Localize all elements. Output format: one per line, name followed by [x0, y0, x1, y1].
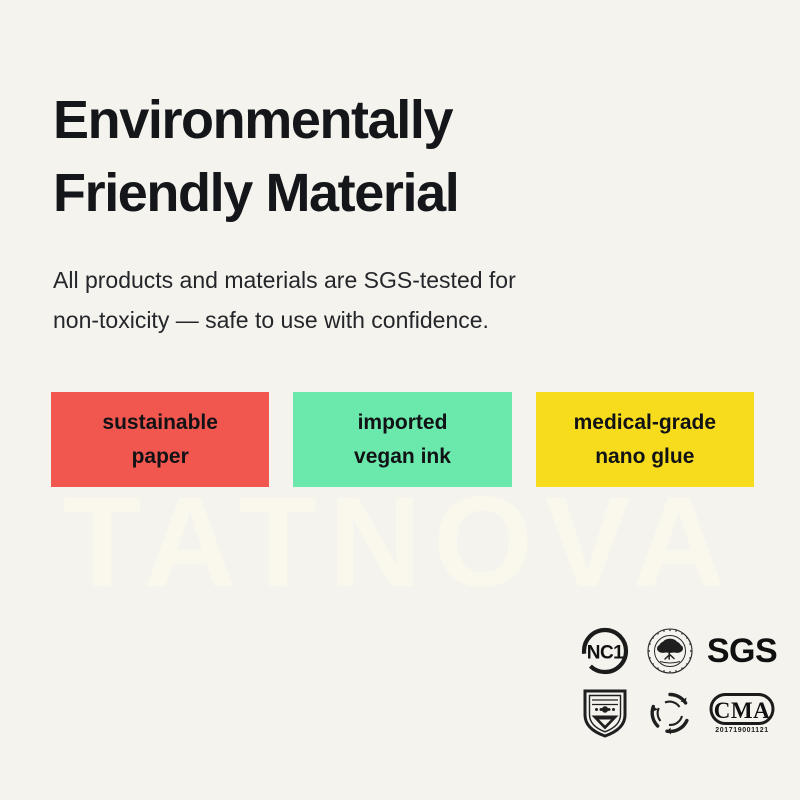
sgs-icon: SGS — [703, 620, 781, 682]
svg-text:CMA: CMA — [714, 698, 770, 723]
material-chip-label-line-1: sustainable — [102, 406, 218, 440]
recycling-icon — [637, 682, 703, 744]
tree-seal-icon — [637, 620, 703, 682]
material-chip-label-line-1: imported — [358, 406, 448, 440]
material-chip-label-line-2: paper — [132, 440, 189, 474]
certification-badge-grid: NC1 — [573, 620, 781, 744]
material-chip-label-line-1: medical-grade — [574, 406, 716, 440]
material-chip-label-line-2: vegan ink — [354, 440, 451, 474]
shield-icon — [573, 682, 637, 744]
material-chip-imported-vegan-ink: imported vegan ink — [293, 392, 511, 487]
cma-icon: CMA 201719001121 — [703, 682, 781, 744]
page-title: Environmentally Friendly Material — [53, 84, 653, 230]
poster-root: TATNOVA Environmentally Friendly Materia… — [0, 0, 800, 800]
page-subtitle: All products and materials are SGS-teste… — [53, 260, 673, 340]
material-chip-list: sustainable paper imported vegan ink med… — [51, 392, 754, 487]
page-title-line-2: Friendly Material — [53, 157, 653, 230]
nc1-icon: NC1 — [573, 620, 637, 682]
brand-watermark: TATNOVA — [0, 478, 800, 608]
svg-text:NC1: NC1 — [587, 643, 624, 664]
cma-certificate-number: 201719001121 — [715, 727, 769, 734]
page-subtitle-line-2: non-toxicity — safe to use with confiden… — [53, 300, 673, 340]
material-chip-sustainable-paper: sustainable paper — [51, 392, 269, 487]
sgs-label: SGS — [707, 634, 777, 668]
page-subtitle-line-1: All products and materials are SGS-teste… — [53, 260, 673, 300]
material-chip-medical-grade-nano-glue: medical-grade nano glue — [536, 392, 754, 487]
material-chip-label-line-2: nano glue — [595, 440, 694, 474]
page-title-line-1: Environmentally — [53, 84, 653, 157]
